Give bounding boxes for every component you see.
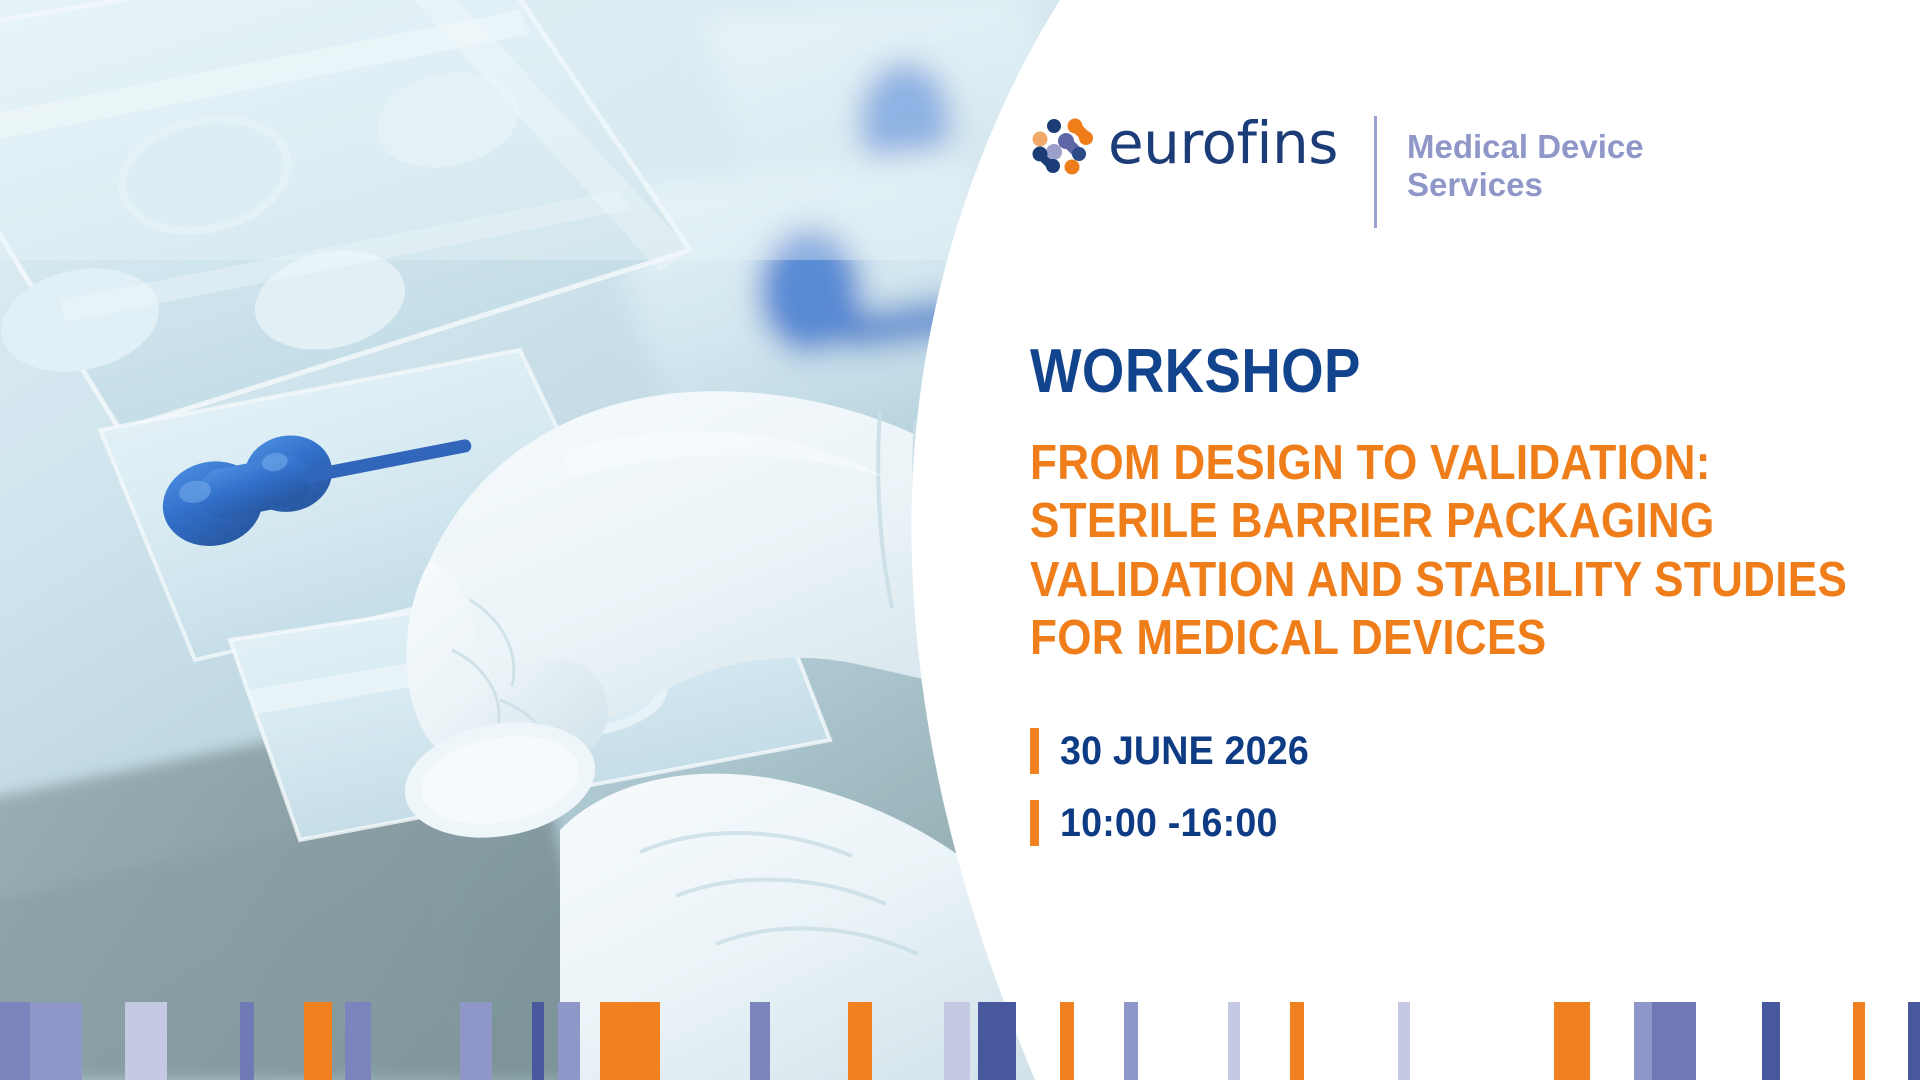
accent-bar-icon	[1030, 728, 1039, 774]
eurofins-wordmark: eurofins	[1108, 110, 1338, 176]
event-date: 30 JUNE 2026	[1060, 729, 1309, 774]
brand-lockup: eurofins Medical Device Services	[1030, 104, 1644, 228]
page-kicker: WORKSHOP	[1030, 336, 1361, 407]
event-time: 10:00 -16:00	[1060, 801, 1278, 846]
title-line-2: STERILE BARRIER PACKAGING	[1030, 496, 1840, 547]
content-column: eurofins Medical Device Services WORKSHO…	[1030, 0, 1920, 1080]
event-time-row: 10:00 -16:00	[1030, 800, 1325, 846]
event-meta: 30 JUNE 2026 10:00 -16:00	[1030, 728, 1325, 872]
accent-bar-icon	[1030, 800, 1039, 846]
title-line-4: FOR MEDICAL DEVICES	[1030, 613, 1840, 664]
title-line-1: FROM DESIGN TO VALIDATION:	[1030, 438, 1840, 489]
logo-divider	[1374, 116, 1377, 228]
brand-business-line: Medical Device Services	[1407, 128, 1644, 205]
title-line-3: VALIDATION AND STABILITY STUDIES	[1030, 555, 1840, 606]
poster-canvas: eurofins Medical Device Services WORKSHO…	[0, 0, 1920, 1080]
eurofins-dot-cluster-icon	[1030, 114, 1096, 180]
event-date-row: 30 JUNE 2026	[1030, 728, 1325, 774]
page-title: FROM DESIGN TO VALIDATION: STERILE BARRI…	[1030, 438, 1840, 672]
hero-photo	[0, 0, 1070, 1080]
